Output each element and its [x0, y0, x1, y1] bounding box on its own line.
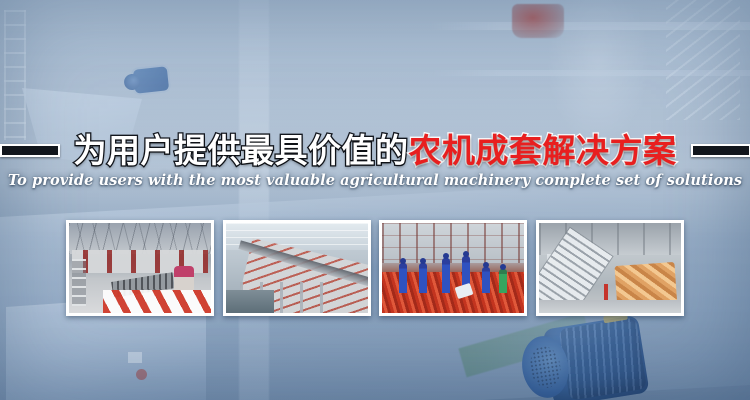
headline-row: 为用户提供最具价值的农机成套解决方案: [0, 126, 750, 174]
thumbnail-2-image: [226, 223, 368, 313]
p3-worker: [442, 258, 450, 293]
p1-roof-trusses: [69, 223, 211, 254]
background-vignette: [0, 0, 750, 400]
headline-white-segment: 为用户提供最具价值的: [74, 131, 409, 170]
subtitle: To provide users with the most valuable …: [0, 172, 750, 189]
p3-worker: [419, 263, 427, 294]
thumbnail-3[interactable]: [379, 220, 527, 316]
left-rule-icon: [0, 144, 60, 157]
right-rule-icon: [691, 144, 750, 157]
page-title: 为用户提供最具价值的农机成套解决方案: [74, 134, 677, 167]
thumbnail-2[interactable]: [223, 220, 371, 316]
thumbnail-1[interactable]: [66, 220, 214, 316]
thumbnail-1-image: [69, 223, 211, 313]
p3-worker: [499, 269, 507, 293]
p3-worker: [482, 267, 490, 293]
p1-rack: [72, 259, 86, 306]
thumbnail-4[interactable]: [536, 220, 684, 316]
thumbnail-4-image: [539, 223, 681, 313]
p3-worker-group: [382, 263, 524, 294]
headline-red-segment: 农机成套解决方案: [409, 131, 677, 170]
thumbnail-3-image: [382, 223, 524, 313]
p3-worker: [399, 263, 407, 294]
thumbnail-strip: [66, 220, 684, 316]
p2-floor: [226, 290, 274, 313]
p3-roof-structure: [382, 223, 524, 263]
p4-floor: [539, 300, 681, 313]
p1-product-floor: [103, 290, 211, 313]
promo-banner: 为用户提供最具价值的农机成套解决方案 To provide users with…: [0, 0, 750, 400]
